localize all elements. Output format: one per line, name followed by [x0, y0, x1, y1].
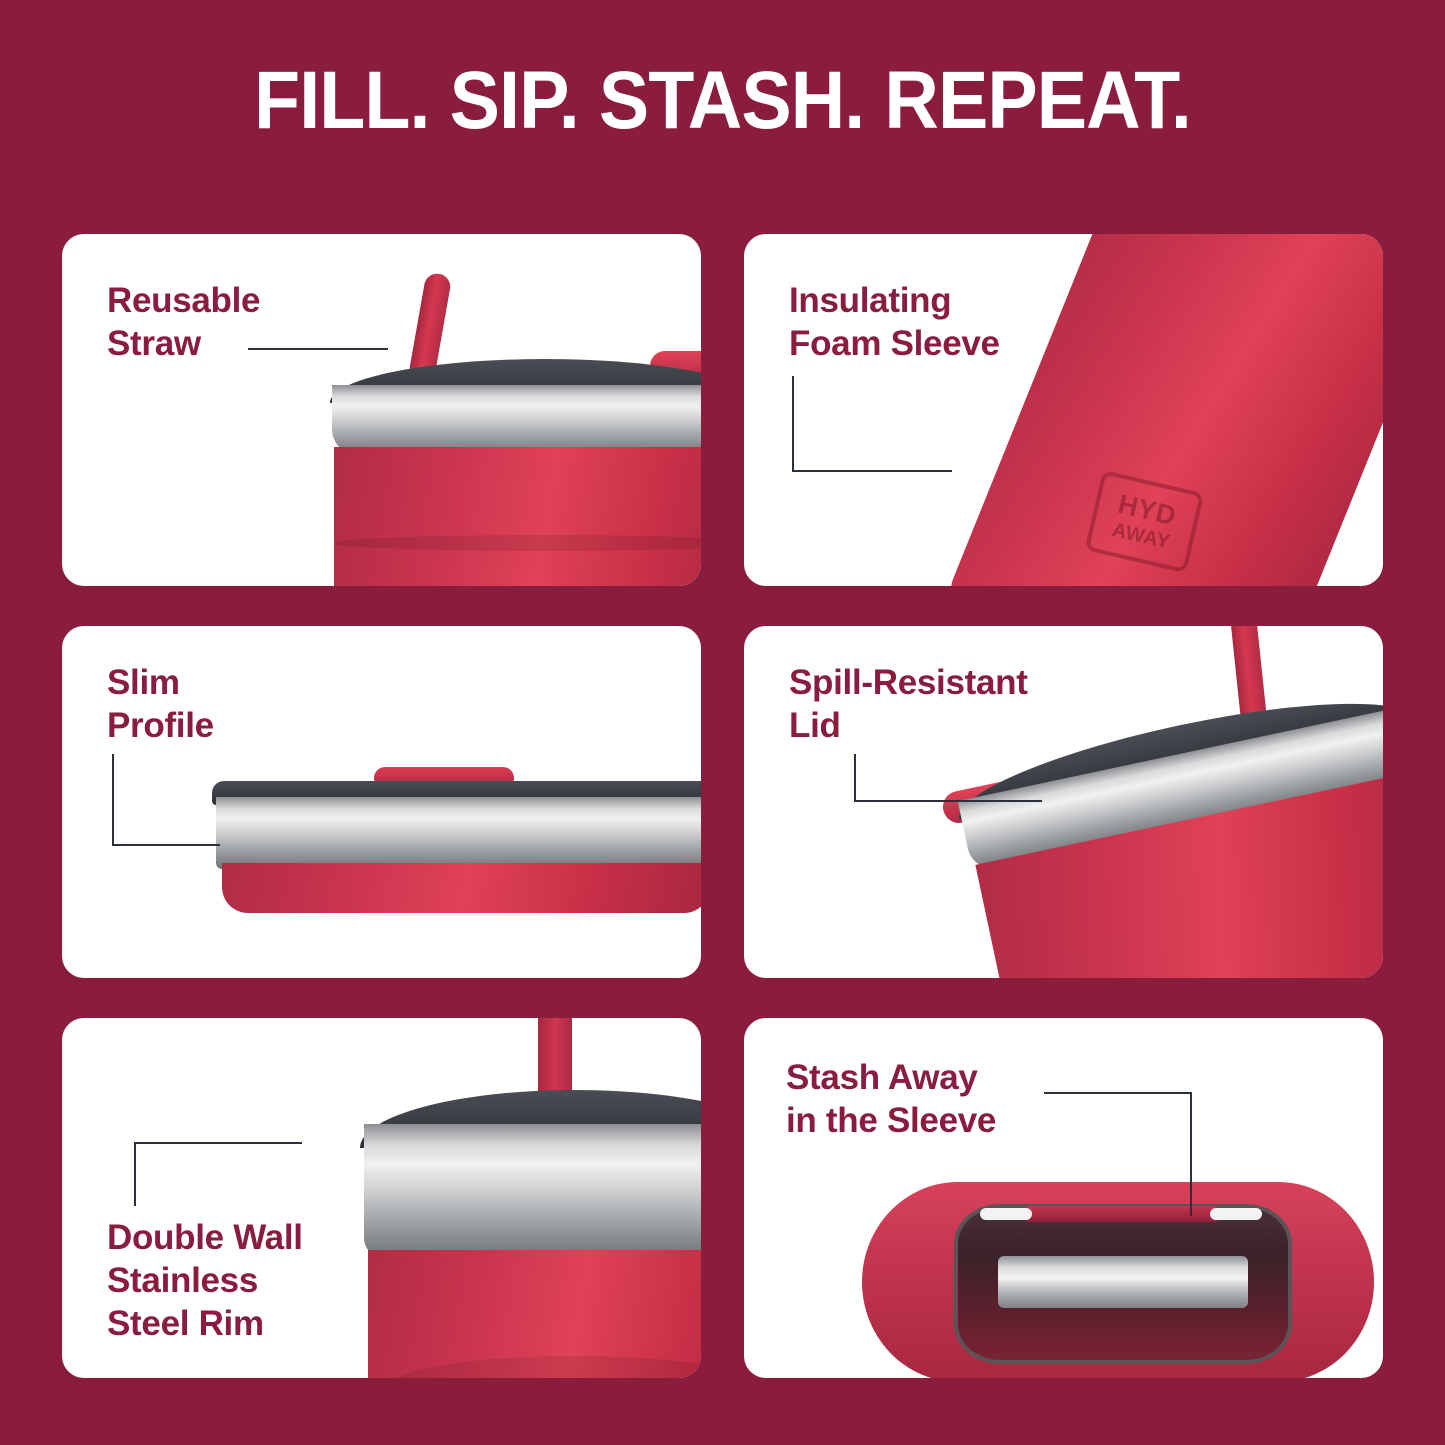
hydaway-logo: HYD AWAY: [1085, 470, 1205, 573]
feature-card-stash-away-in-the-sleeve: Stash Away in the Sleeve: [744, 1018, 1383, 1378]
leader-line-insulating-foam-sleeve: [792, 376, 952, 472]
feature-card-reusable-straw: Reusable Straw: [62, 234, 701, 586]
feature-card-double-wall-stainless-steel-rim: Double Wall Stainless Steel Rim: [62, 1018, 701, 1378]
steel-rim-band: [332, 385, 701, 455]
leader-line-reusable-straw: [248, 348, 388, 352]
silicone-body: [222, 863, 701, 913]
foam-sleeve: HYD AWAY: [944, 234, 1383, 586]
leader-line-double-wall-stainless-steel-rim: [134, 1142, 302, 1206]
steel-rim-band: [216, 797, 701, 869]
feature-label-reusable-straw: Reusable Straw: [107, 279, 260, 365]
feature-card-spill-resistant-lid: Spill-Resistant Lid: [744, 626, 1383, 978]
sleeve-gap-left: [980, 1208, 1032, 1220]
steel-rim-band: [998, 1256, 1248, 1308]
feature-label-double-wall-stainless-steel-rim: Double Wall Stainless Steel Rim: [107, 1216, 303, 1345]
feature-card-slim-profile: Slim Profile: [62, 626, 701, 978]
feature-label-spill-resistant-lid: Spill-Resistant Lid: [789, 661, 1028, 747]
page-headline: FILL. SIP. STASH. REPEAT.: [58, 60, 1387, 142]
feature-card-grid: Reusable Straw HYD AWAY Insulating Foam …: [62, 234, 1383, 1379]
silicone-body: [334, 447, 701, 586]
leader-line-spill-resistant-lid: [854, 754, 1042, 802]
steel-rim-band: [364, 1124, 701, 1258]
sleeve-gap-right: [1210, 1208, 1262, 1220]
feature-label-stash-away-in-the-sleeve: Stash Away in the Sleeve: [786, 1056, 996, 1142]
leader-line-stash-away-in-the-sleeve: [1044, 1092, 1192, 1216]
feature-card-insulating-foam-sleeve: HYD AWAY Insulating Foam Sleeve: [744, 234, 1383, 586]
leader-line-slim-profile: [112, 754, 220, 846]
feature-label-insulating-foam-sleeve: Insulating Foam Sleeve: [789, 279, 1000, 365]
feature-label-slim-profile: Slim Profile: [107, 661, 214, 747]
stashed-tumbler: [954, 1204, 1292, 1364]
